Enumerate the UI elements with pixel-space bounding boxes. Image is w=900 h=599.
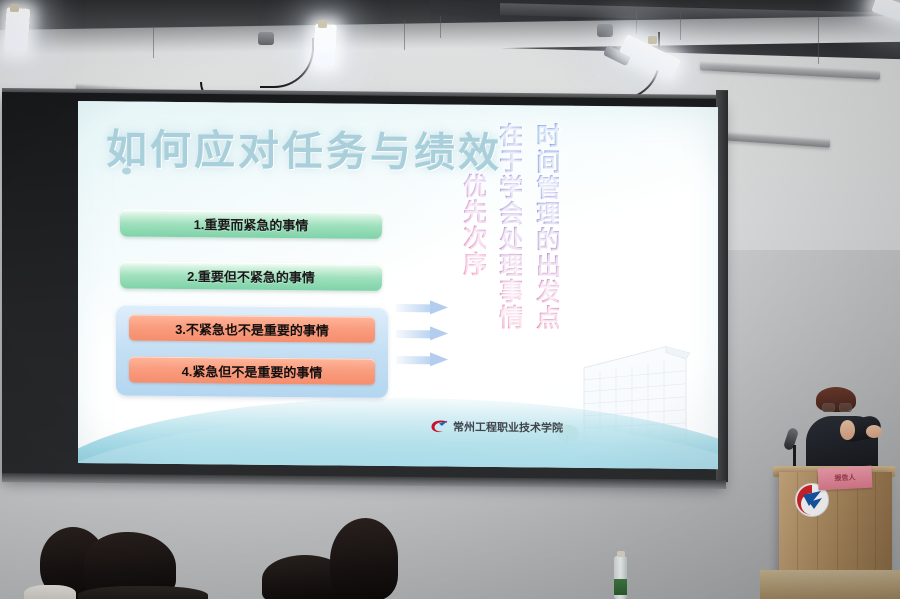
vertical-text-col-1: 时间管理的出发点 — [533, 122, 559, 372]
priority-box-1: 1.重要而紧急的事情 — [120, 209, 382, 239]
audience-collar — [24, 585, 76, 599]
slide-footer-logo: 常州工程职业技术学院 — [430, 418, 563, 435]
glasses-icon — [822, 403, 850, 410]
priority-box-2: 2.重要但不紧急的事情 — [120, 261, 382, 291]
ceiling-tube-light — [3, 7, 30, 53]
slide-title: 如何应对任务与绩效 — [106, 115, 502, 179]
lamp-wire — [818, 14, 819, 64]
ceiling-tube-light — [313, 23, 337, 66]
audience-shoulders — [78, 586, 208, 599]
lecture-hall-photo: 如何应对任务与绩效 1.重要而紧急的事情 2.重要但不紧急的事情 3.不紧急也不… — [0, 0, 900, 599]
projected-slide: 如何应对任务与绩效 1.重要而紧急的事情 2.重要但不紧急的事情 3.不紧急也不… — [78, 101, 718, 469]
speaker-hand-left — [866, 425, 882, 438]
podium-name-card: 报告人 — [817, 466, 872, 491]
priority-box-4-label: 4.紧急但不是重要的事情 — [182, 360, 323, 380]
orange-group-container: 3.不紧急也不是重要的事情 4.紧急但不是重要的事情 — [116, 304, 388, 398]
vertical-text-col-3: 优先次序 — [460, 173, 486, 293]
tube-light-cap — [318, 20, 327, 28]
tube-light-cap — [648, 36, 657, 44]
flow-arrow-3 — [396, 352, 450, 368]
podium-name-card-label: 报告人 — [834, 472, 855, 483]
lamp-wire — [636, 10, 637, 34]
institution-name-label: 常州工程职业技术学院 — [453, 419, 563, 436]
vertical-text-col-2: 在于学会处理事情 — [496, 122, 522, 372]
priority-box-3-label: 3.不紧急也不是重要的事情 — [175, 318, 329, 338]
lamp-mount — [258, 32, 274, 45]
lamp-wire — [153, 26, 154, 58]
priority-box-4: 4.紧急但不是重要的事情 — [129, 356, 375, 384]
lamp-wire — [404, 20, 405, 50]
water-bottle-label — [614, 579, 627, 595]
lamp-mount — [597, 24, 613, 37]
priority-box-2-label: 2.重要但不紧急的事情 — [187, 266, 315, 286]
institution-swoosh-icon — [430, 419, 449, 433]
lamp-wire — [440, 16, 441, 38]
flow-arrow-1 — [396, 300, 450, 316]
title-decorative-dot — [122, 167, 131, 174]
tube-light-cap — [10, 4, 19, 12]
audience-head — [330, 518, 398, 599]
side-table — [760, 570, 900, 599]
priority-box-3: 3.不紧急也不是重要的事情 — [129, 314, 375, 342]
water-bottle-cap — [617, 551, 625, 557]
priority-box-1-label: 1.重要而紧急的事情 — [194, 214, 309, 234]
flow-arrow-2 — [396, 326, 450, 342]
lamp-wire — [680, 12, 681, 40]
